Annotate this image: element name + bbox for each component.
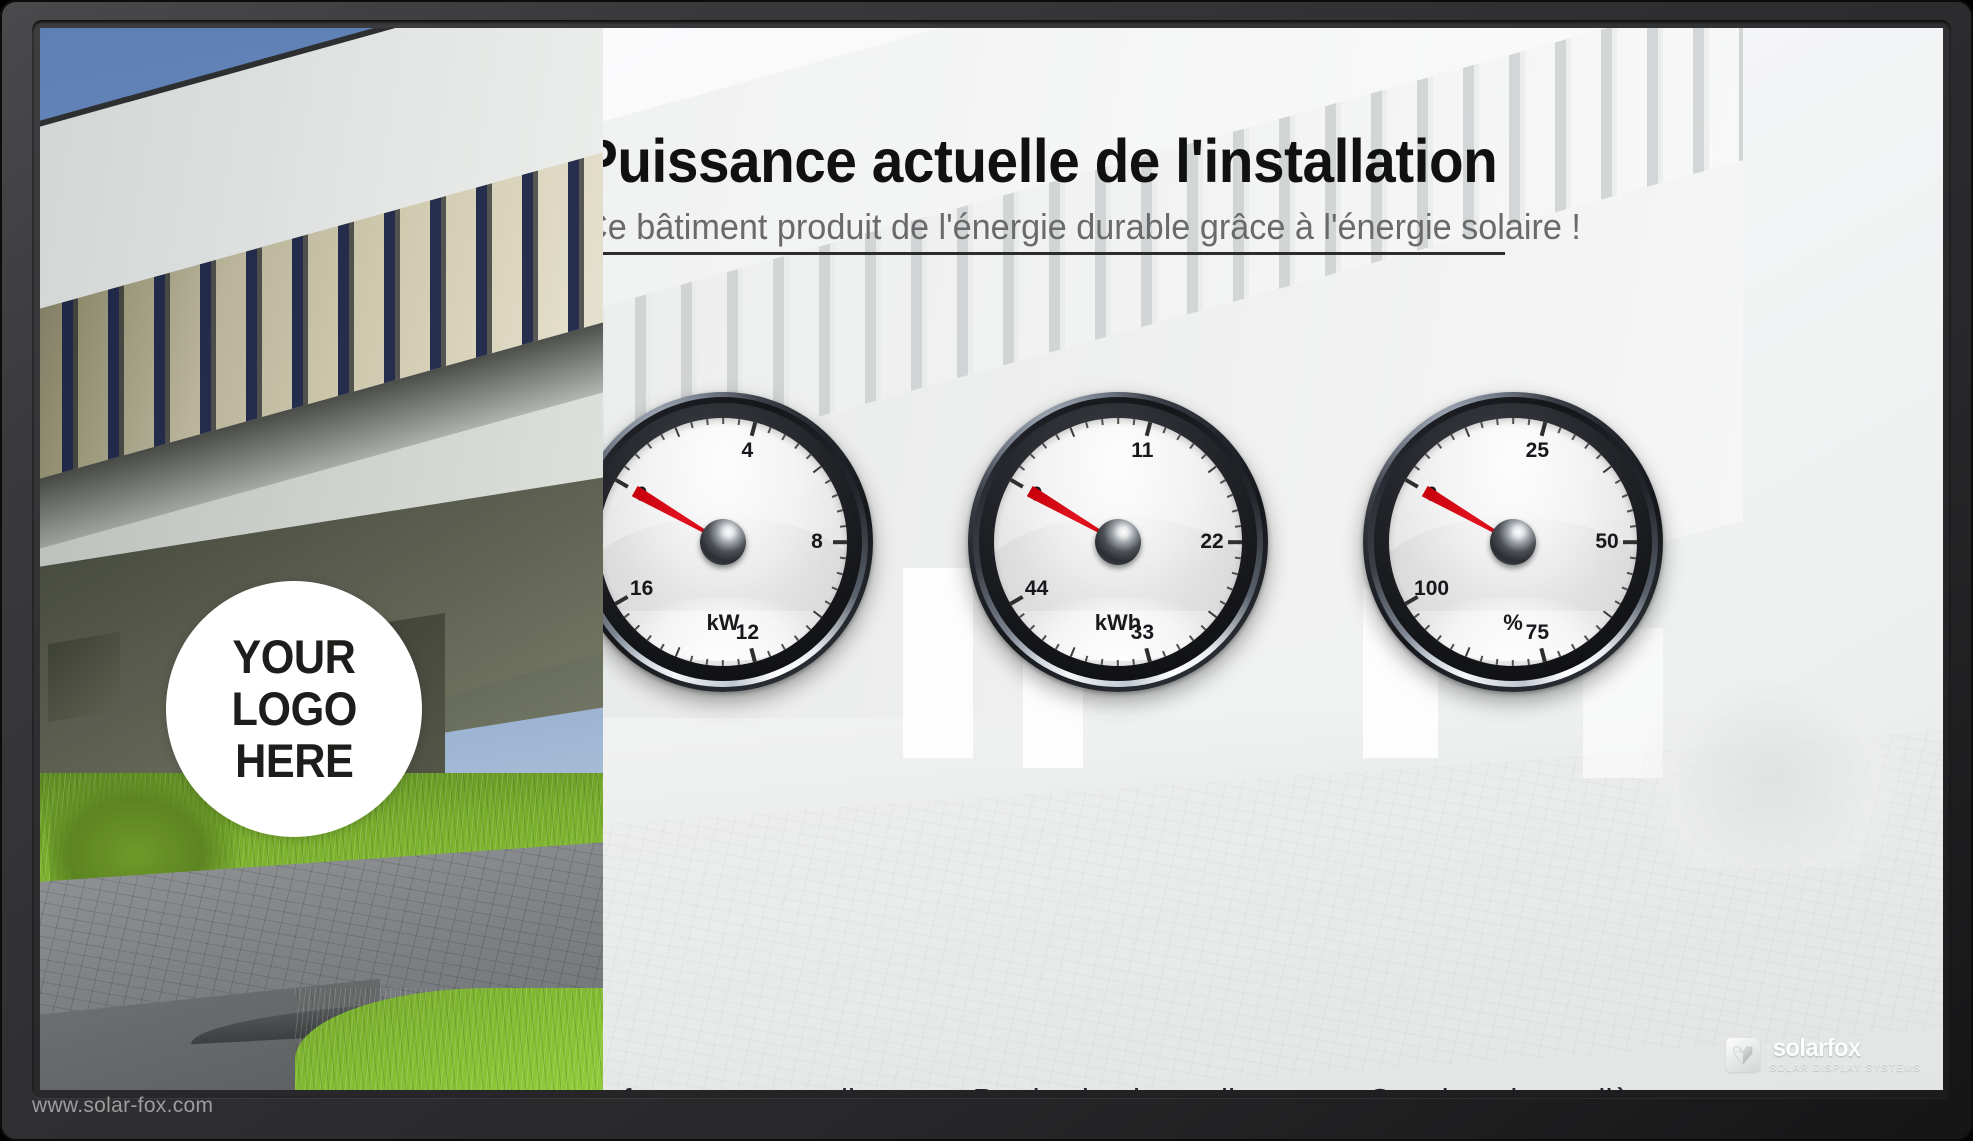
gauge-tick	[674, 647, 680, 657]
gauge-dial: 0255075100%	[1363, 392, 1663, 692]
gauge-tick-label: 4	[741, 439, 753, 463]
gauge-tick	[1571, 644, 1575, 650]
gauge-tick	[1622, 586, 1628, 590]
vendor-tagline: SOLAR DISPLAY SYSTEMS	[1769, 1064, 1921, 1074]
display-monitor: YOUR LOGO HERE Puissance actuelle de l'i…	[0, 0, 1973, 1141]
gauge-tick	[1528, 659, 1530, 665]
gauge-tick	[1055, 434, 1059, 440]
gauge-tick	[1450, 644, 1454, 650]
gauge-tick	[1540, 648, 1547, 662]
gauge-tick	[660, 644, 664, 650]
gauge-tick	[635, 625, 640, 630]
gauge-tick	[1627, 509, 1633, 512]
gauge-tick	[647, 635, 652, 641]
gauge-tick	[1189, 443, 1194, 449]
gauge-tick	[1227, 494, 1233, 498]
gauge-tick	[1571, 434, 1575, 440]
gauge-tick	[1512, 660, 1514, 666]
gauge-tick	[1019, 613, 1025, 618]
gauge-tick	[1596, 454, 1601, 459]
gauge-tick	[1540, 422, 1547, 436]
gauge-tick	[1437, 443, 1442, 449]
gauge-tick	[832, 494, 838, 498]
gauge-tick	[813, 610, 822, 618]
gauge-tick	[1425, 454, 1430, 459]
footer-url: www.solar-fox.com	[32, 1094, 213, 1118]
gauge-tick	[1030, 454, 1035, 459]
gauge-tick	[1162, 651, 1166, 657]
gauge-tick	[1437, 635, 1442, 641]
gauge-tick	[1623, 540, 1637, 544]
grass-texture-front	[295, 988, 603, 1090]
gauge-unit-label: kW	[707, 610, 740, 636]
gauge-tick	[1615, 479, 1621, 483]
gauge-tick	[615, 595, 629, 605]
building-photo-panel: YOUR LOGO HERE	[40, 28, 603, 1090]
solarfox-wordmark: solarfox SOLAR DISPLAY SYSTEMS	[1769, 1036, 1921, 1074]
gauge-tick	[1464, 647, 1470, 657]
gauge-tick	[767, 651, 771, 657]
gauge-tick	[1584, 635, 1589, 641]
gauge-tick	[1117, 660, 1119, 666]
gauge-tick	[1630, 557, 1636, 559]
gauge-tick	[1189, 635, 1194, 641]
gauge-tick	[635, 454, 640, 459]
gauge-tick	[1425, 625, 1430, 630]
customer-logo-placeholder[interactable]: YOUR LOGO HERE	[166, 581, 422, 837]
logo-line-2: LOGO	[231, 683, 356, 735]
gauge-tick	[1117, 418, 1119, 424]
gauge-tick	[1596, 625, 1601, 630]
gauge-tick	[767, 427, 771, 433]
gauge-tick	[1627, 572, 1633, 575]
gauge-tick	[781, 644, 785, 650]
gauge-tick	[1176, 434, 1180, 440]
gauge-tick	[1557, 651, 1561, 657]
gauge-tick	[794, 443, 799, 449]
gauge-tick	[1208, 610, 1217, 618]
gauge-tick	[615, 478, 629, 488]
gauge-tick	[1101, 659, 1103, 665]
gauge-tick	[1557, 427, 1561, 433]
gauge-tick	[781, 434, 785, 440]
gauge-tick	[674, 427, 680, 437]
gauge-tick	[706, 659, 708, 665]
gauge-tick	[722, 660, 724, 666]
gauge-tick	[1055, 644, 1059, 650]
gauge-tick	[1042, 443, 1047, 449]
logo-line-3: HERE	[235, 735, 353, 787]
gauge-tick	[1228, 540, 1242, 544]
gauge-tick	[722, 418, 724, 424]
gauge-tick	[690, 422, 693, 428]
gauge-tick	[1220, 479, 1226, 483]
gauge-tick	[1512, 418, 1514, 424]
gauge-hub	[1095, 519, 1141, 565]
gauge-tick	[840, 525, 846, 527]
gauge-tick	[1085, 656, 1088, 662]
gauge-tick	[624, 613, 630, 618]
gauge-tick	[1208, 466, 1217, 474]
gauge-face: 0481216kW	[603, 418, 847, 666]
gauge-tick	[1069, 427, 1075, 437]
gauge-tick	[1622, 494, 1628, 498]
gauge-tick	[1019, 466, 1025, 471]
gauge-tick-label: 50	[1595, 530, 1618, 554]
building-side-window	[48, 632, 120, 723]
gauge-hub	[700, 519, 746, 565]
gauge-face: 011223344kWh	[994, 418, 1242, 666]
gauge-1: 0481216kWPerformance actuelle	[603, 392, 903, 692]
gauge-tick	[1414, 613, 1420, 618]
gauge-unit-label: %	[1503, 610, 1523, 636]
gauge-tick	[1450, 434, 1454, 440]
gauge-tick	[1133, 419, 1135, 425]
fox-chevron-icon	[1726, 1038, 1760, 1072]
logo-line-1: YOUR	[232, 631, 355, 683]
gauge-tick	[825, 600, 831, 604]
gauge-tick	[1615, 600, 1621, 604]
gauge-tick-label: 11	[1131, 439, 1153, 463]
gauge-tick	[825, 479, 831, 483]
gauge-tick	[624, 466, 630, 471]
gauge-tick	[1201, 625, 1206, 630]
gauge-tick	[1464, 427, 1470, 437]
gauge-tick	[1414, 466, 1420, 471]
gauge-tick	[1235, 525, 1241, 527]
grass-foreground	[295, 988, 603, 1090]
gauge-tick	[832, 586, 838, 590]
gauge-tick	[738, 659, 740, 665]
gauge-tick	[1232, 572, 1238, 575]
gauge-2: 011223344kWhProduction journalier	[938, 392, 1298, 692]
gauge-tick	[1101, 419, 1103, 425]
gauge-tick	[750, 648, 757, 662]
gauge-tick	[837, 572, 843, 575]
gauge-tick	[1010, 478, 1024, 488]
gauge-tick	[1010, 595, 1024, 605]
gauge-tick-label: 100	[1414, 577, 1449, 601]
gauge-tick	[1133, 659, 1135, 665]
gauge-tick	[833, 540, 847, 544]
gauge-tick-label: 8	[811, 530, 823, 554]
solarfox-logo: solarfox SOLAR DISPLAY SYSTEMS	[1726, 1036, 1921, 1074]
vendor-name: solarfox	[1773, 1036, 1917, 1061]
screen-area: YOUR LOGO HERE Puissance actuelle de l'i…	[40, 28, 1943, 1090]
gauge-tick	[1176, 644, 1180, 650]
gauge-face: 0255075100%	[1389, 418, 1637, 666]
gauge-tick	[738, 419, 740, 425]
gauge-tick	[806, 454, 811, 459]
gauge-tick	[1603, 466, 1612, 474]
gauge-tick	[840, 557, 846, 559]
gauge-tick	[1030, 625, 1035, 630]
gauge-tick	[1480, 656, 1483, 662]
gauge-tick	[1603, 610, 1612, 618]
gauge-tick	[837, 509, 843, 512]
gauge-tick	[1085, 422, 1088, 428]
gauge-unit-label: kWh	[1095, 610, 1141, 636]
gauge-tick	[794, 635, 799, 641]
gauge-tick	[1201, 454, 1206, 459]
gauge-tick-label: 44	[1025, 577, 1048, 601]
gauge-tick	[1220, 600, 1226, 604]
gauge-tick	[706, 419, 708, 425]
gauge-caption: Performance actuelle	[603, 1082, 896, 1090]
gauge-tick-label: 75	[1526, 621, 1549, 645]
gauge-tick	[1232, 509, 1238, 512]
gauge-3: 0255075100%Consigne journalière	[1333, 392, 1693, 692]
gauge-tick-label: 22	[1200, 530, 1223, 554]
gauge-tick-label: 25	[1526, 439, 1549, 463]
gauge-row: 0481216kWPerformance actuelle011223344kW…	[603, 28, 1943, 1090]
gauge-caption: Consigne journalière	[1340, 1082, 1686, 1090]
gauge-tick	[1227, 586, 1233, 590]
gauge-caption: Production journalier	[945, 1082, 1291, 1090]
gauge-tick	[660, 434, 664, 440]
gauge-tick	[1042, 635, 1047, 641]
gauge-tick	[690, 656, 693, 662]
gauge-tick	[1162, 427, 1166, 433]
dashboard-panel: Puissance actuelle de l'installation Ce …	[603, 28, 1943, 1090]
gauge-tick	[806, 625, 811, 630]
gauge-tick	[1496, 419, 1498, 425]
gauge-tick	[1405, 478, 1419, 488]
gauge-dial: 0481216kW	[603, 392, 873, 692]
gauge-tick	[1069, 647, 1075, 657]
gauge-tick	[1145, 648, 1152, 662]
gauge-dial: 011223344kWh	[968, 392, 1268, 692]
gauge-tick	[1480, 422, 1483, 428]
gauge-tick-label: 16	[630, 577, 653, 601]
gauge-tick	[813, 466, 822, 474]
gauge-tick	[1496, 659, 1498, 665]
gauge-hub	[1490, 519, 1536, 565]
gauge-tick	[1235, 557, 1241, 559]
gauge-tick	[1145, 422, 1152, 436]
gauge-tick	[1630, 525, 1636, 527]
gauge-tick	[647, 443, 652, 449]
gauge-tick	[750, 422, 757, 436]
gauge-tick	[1528, 419, 1530, 425]
gauge-tick	[1584, 443, 1589, 449]
